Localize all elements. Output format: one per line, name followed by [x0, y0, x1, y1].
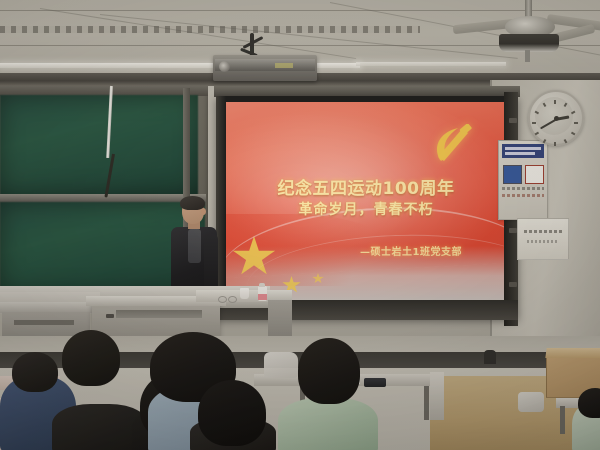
classroom-photo: 纪念五四运动100周年 革命岁月，青春不朽 —硕士岩土1班党支部 — [0, 0, 600, 450]
presenter-ear — [201, 208, 206, 215]
desk-leg — [424, 386, 429, 420]
sign-header — [502, 144, 544, 158]
eyeglasses — [218, 296, 236, 302]
wall-clock — [528, 90, 584, 146]
ceiling-projector — [213, 55, 317, 81]
screen-hook — [509, 282, 517, 287]
presenter-arm — [204, 234, 218, 294]
screen-hook — [509, 118, 517, 123]
smartphone — [364, 378, 386, 387]
right-desk-side — [268, 300, 292, 338]
presentation-slide: 纪念五四运动100周年 革命岁月，青春不朽 —硕士岩土1班党支部 — [226, 102, 506, 300]
presenter-shirt — [188, 229, 201, 263]
slide-subtitle: 革命岁月，青春不朽 — [226, 199, 506, 219]
ceiling-vent — [0, 26, 420, 33]
cardboard-box-flap — [545, 348, 600, 358]
slide-title: 纪念五四运动100周年 — [226, 174, 506, 199]
lectern-knob — [106, 314, 114, 318]
projector-lens — [219, 61, 230, 72]
ceiling-joint-line — [40, 8, 356, 59]
sign-pictogram-red — [525, 165, 544, 184]
cpc-hammer-sickle-emblem — [432, 124, 478, 164]
ceiling-light-strip — [356, 62, 506, 66]
screen-hook — [509, 228, 517, 233]
plastic-bag — [264, 352, 298, 378]
ceiling-fan — [455, 0, 600, 58]
projector-face — [215, 59, 315, 71]
wall-socket — [484, 350, 496, 364]
slide-organization: —硕士岩土1班党支部 — [226, 243, 506, 258]
water-cup — [240, 288, 249, 299]
wall-notice-board — [498, 140, 548, 220]
clock-center-pin — [554, 116, 559, 121]
sign-caption — [502, 187, 544, 190]
plastic-bag — [518, 392, 544, 412]
sign-text-line — [527, 240, 559, 243]
student-desk-side — [430, 372, 444, 420]
sign-text-line — [524, 230, 562, 233]
projector-label — [275, 63, 293, 68]
lectern-panel — [116, 310, 202, 318]
desk-leg — [560, 406, 565, 434]
wall-white-sign — [517, 218, 569, 260]
bottle-cap — [259, 283, 265, 287]
bottle-label — [258, 294, 267, 300]
sign-caption — [502, 194, 544, 197]
sign-pictogram-blue — [503, 165, 522, 184]
green-chalkboard — [0, 95, 198, 195]
fan-stem — [525, 50, 530, 62]
